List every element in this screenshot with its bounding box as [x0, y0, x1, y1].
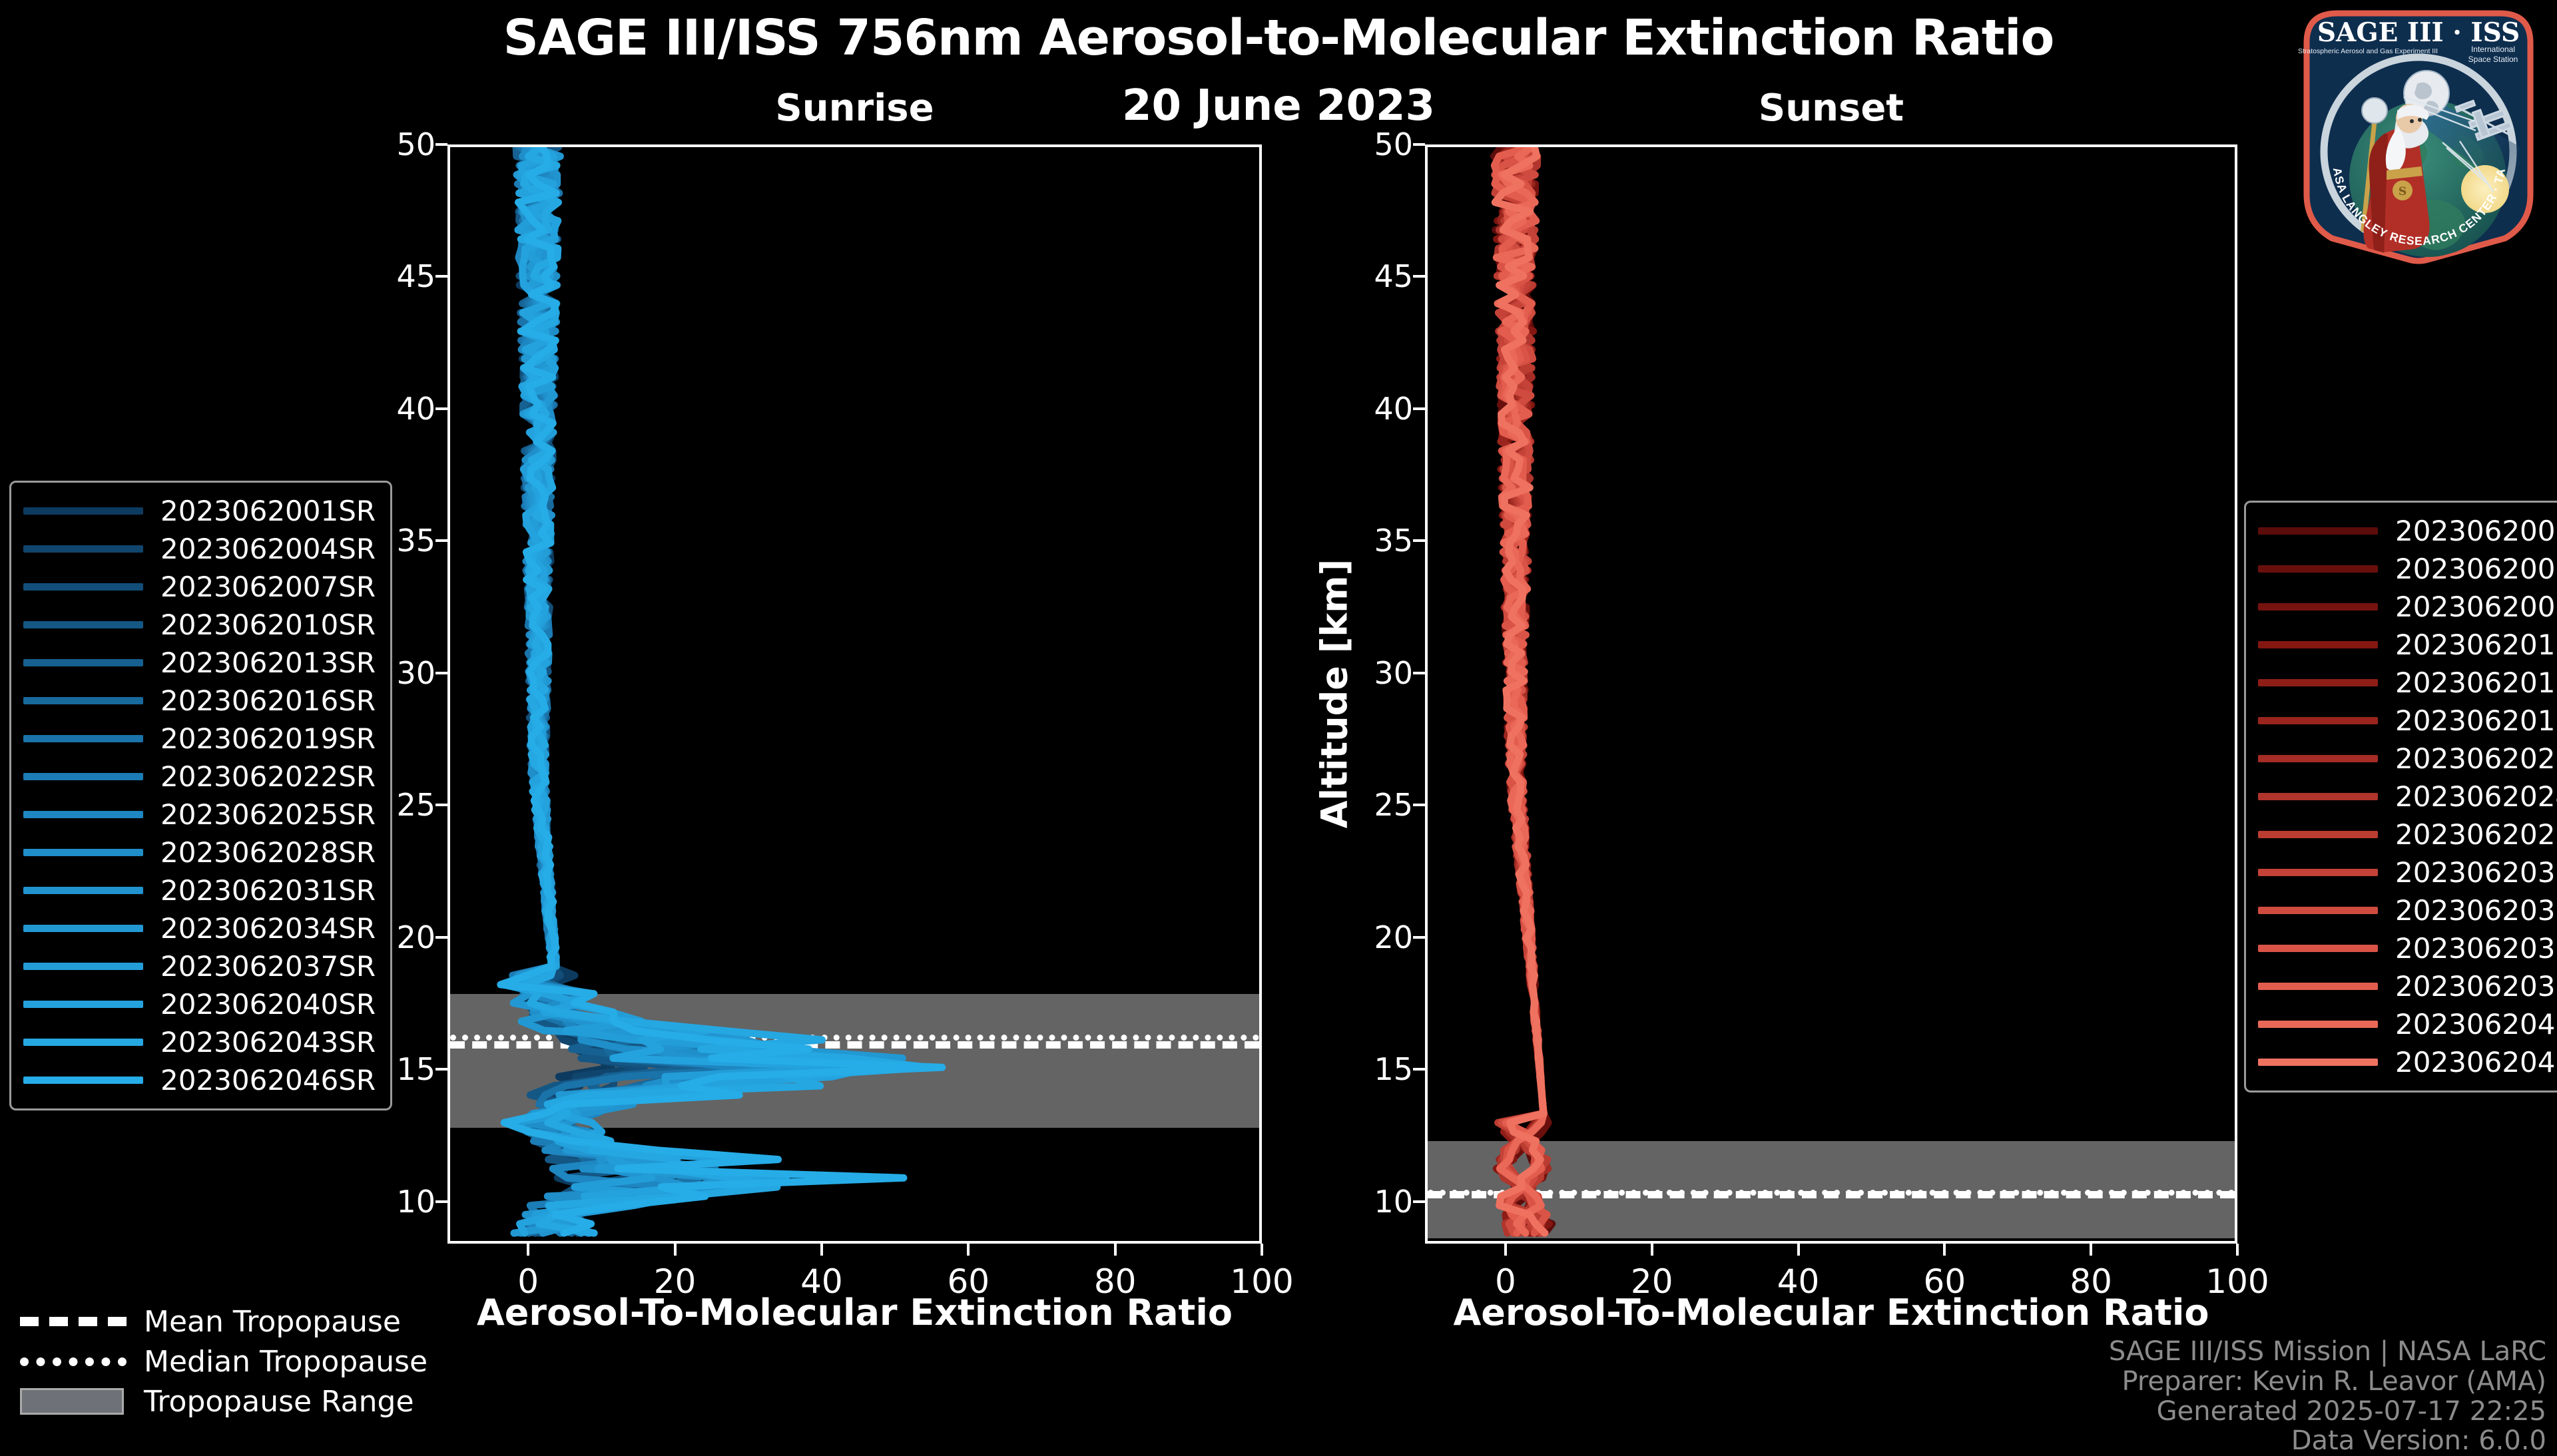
legend-color-swatch [2258, 945, 2378, 952]
y-tick-mark [1413, 804, 1425, 806]
legend-series-label: 2023062033SS [2395, 894, 2557, 927]
y-tick-mark [435, 275, 447, 278]
legend-item-2023062006ss[interactable]: 2023062006SS [2258, 550, 2557, 588]
legend-color-swatch [2258, 755, 2378, 762]
legend-item-2023062015ss[interactable]: 2023062015SS [2258, 664, 2557, 702]
legend-color-swatch [23, 1077, 143, 1084]
legend-color-swatch [2258, 641, 2378, 648]
y-tick-mark [1413, 275, 1425, 278]
legend-item-2023062024ss[interactable]: 2023062024SS [2258, 778, 2557, 816]
sage-iii-iss-mission-patch-logo: S SAGE III · ISS Stratospheric Aerosol a… [2285, 4, 2552, 265]
legend-item-2023062016sr[interactable]: 2023062016SR [23, 682, 376, 720]
logo-subtitle-right-1: International [2471, 45, 2515, 54]
legend-color-swatch [2258, 907, 2378, 914]
y-tick-mark [435, 804, 447, 806]
legend-item-2023062007sr[interactable]: 2023062007SR [23, 568, 376, 606]
y-tick-label: 50 [348, 126, 435, 162]
legend-item-2023062040sr[interactable]: 2023062040SR [23, 985, 376, 1023]
legend-item-2023062013sr[interactable]: 2023062013SR [23, 644, 376, 682]
legend-color-swatch [23, 1039, 143, 1046]
legend-item-mean-tropopause: Mean Tropopause [20, 1302, 427, 1341]
legend-color-swatch [2258, 1021, 2378, 1028]
legend-series-label: 2023062030SS [2395, 856, 2557, 889]
legend-color-swatch [2258, 565, 2378, 573]
y-tick-label: 50 [1325, 126, 1413, 162]
legend-series-label: 2023062025SR [160, 798, 376, 831]
dashed-line-icon [20, 1310, 127, 1333]
legend-series-label: 2023062045SS [2395, 1046, 2557, 1079]
legend-item-2023062028sr[interactable]: 2023062028SR [23, 834, 376, 871]
logo-subtitle-right-2: Space Station [2468, 55, 2518, 64]
page-title: SAGE III/ISS 756nm Aerosol-to-Molecular … [0, 9, 2557, 67]
legend-item-2023062030ss[interactable]: 2023062030SS [2258, 853, 2557, 891]
y-tick-mark [435, 936, 447, 939]
legend-label-tropopause-range: Tropopause Range [144, 1385, 414, 1419]
x-tick-mark [1943, 1244, 1946, 1256]
legend-item-2023062036ss[interactable]: 2023062036SS [2258, 929, 2557, 967]
legend-color-swatch [2258, 527, 2378, 535]
legend-item-2023062046sr[interactable]: 2023062046SR [23, 1061, 376, 1099]
legend-item-2023062003ss[interactable]: 2023062003SS [2258, 512, 2557, 550]
legend-series-label: 2023062018SS [2395, 704, 2557, 737]
x-tick-mark [2090, 1244, 2092, 1256]
legend-series-label: 2023062024SS [2395, 780, 2557, 813]
legend-color-swatch [23, 659, 143, 666]
legend-color-swatch [2258, 831, 2378, 838]
legend-series-label: 2023062001SR [160, 495, 376, 527]
y-tick-label: 40 [1325, 391, 1413, 427]
footer-line-preparer: Preparer: Kevin R. Leavor (AMA) [2109, 1367, 2546, 1397]
legend-color-swatch [23, 773, 143, 780]
y-tick-mark [1413, 143, 1425, 146]
legend-item-2023062042ss[interactable]: 2023062042SS [2258, 1005, 2557, 1043]
y-tick-mark [1413, 1068, 1425, 1071]
legend-series-label: 2023062028SR [160, 836, 376, 869]
legend-series-label: 2023062027SS [2395, 818, 2557, 851]
legend-series-label: 2023062022SR [160, 760, 376, 793]
legend-series-label: 2023062016SR [160, 684, 376, 717]
legend-color-swatch [23, 621, 143, 628]
legend-item-2023062037sr[interactable]: 2023062037SR [23, 947, 376, 985]
legend-item-2023062025sr[interactable]: 2023062025SR [23, 796, 376, 834]
legend-color-swatch [23, 887, 143, 894]
legend-color-swatch [2258, 983, 2378, 990]
x-tick-mark [1797, 1244, 1800, 1256]
legend-color-swatch [2258, 793, 2378, 800]
legend-series-label: 2023062009SS [2395, 591, 2557, 623]
legend-series-label: 2023062046SR [160, 1064, 376, 1096]
sunrise-series-legend[interactable]: 2023062001SR2023062004SR2023062007SR2023… [9, 481, 392, 1110]
legend-series-label: 2023062004SR [160, 533, 376, 565]
x-tick-mark [2236, 1244, 2239, 1256]
y-tick-mark [435, 143, 447, 146]
y-tick-label: 35 [1325, 523, 1413, 559]
legend-color-swatch [2258, 679, 2378, 686]
y-tick-mark [435, 1200, 447, 1203]
legend-series-label: 2023062040SR [160, 988, 376, 1021]
legend-item-2023062001sr[interactable]: 2023062001SR [23, 492, 376, 530]
sunrise-plot-area [447, 144, 1262, 1244]
legend-series-label: 2023062039SS [2395, 970, 2557, 1003]
legend-item-2023062034sr[interactable]: 2023062034SR [23, 909, 376, 947]
sunset-y-axis-label: Altitude [km] [1314, 559, 1356, 829]
legend-color-swatch [23, 849, 143, 856]
legend-item-2023062018ss[interactable]: 2023062018SS [2258, 702, 2557, 740]
y-tick-mark [435, 672, 447, 674]
x-tick-mark [1651, 1244, 1653, 1256]
legend-item-median-tropopause: Median Tropopause [20, 1341, 427, 1381]
legend-color-swatch [23, 545, 143, 553]
gray-swatch-icon [20, 1390, 127, 1413]
legend-item-2023062039ss[interactable]: 2023062039SS [2258, 967, 2557, 1005]
legend-item-2023062043sr[interactable]: 2023062043SR [23, 1023, 376, 1061]
legend-color-swatch [2258, 1059, 2378, 1066]
y-tick-mark [1413, 1200, 1425, 1203]
legend-series-label: 2023062031SR [160, 874, 376, 907]
svg-text:S: S [2399, 185, 2407, 198]
legend-item-2023062019sr[interactable]: 2023062019SR [23, 720, 376, 758]
legend-series-label: 2023062006SS [2395, 553, 2557, 585]
legend-series-label: 2023062013SR [160, 646, 376, 679]
legend-color-swatch [23, 583, 143, 591]
sunset-x-axis-label: Aerosol-To-Molecular Extinction Ratio [1425, 1292, 2237, 1334]
y-tick-label: 20 [1325, 919, 1413, 955]
y-tick-label: 40 [348, 391, 435, 427]
y-tick-mark [435, 407, 447, 410]
sunrise-panel-title: Sunrise [447, 87, 1262, 130]
legend-color-swatch [23, 963, 143, 970]
sunset-panel-title: Sunset [1425, 87, 2237, 130]
x-tick-mark [527, 1244, 529, 1256]
legend-series-label: 2023062015SS [2395, 666, 2557, 699]
logo-title: SAGE III · ISS [2317, 17, 2520, 48]
legend-color-swatch [23, 697, 143, 704]
x-tick-mark [674, 1244, 677, 1256]
sunset-series-legend[interactable]: 2023062003SS2023062006SS2023062009SS2023… [2244, 501, 2557, 1092]
logo-subtitle-left: Stratospheric Aerosol and Gas Experiment… [2298, 47, 2438, 55]
legend-label-median-tropopause: Median Tropopause [144, 1345, 427, 1379]
y-tick-label: 45 [348, 258, 435, 294]
footer-line-generated: Generated 2025-07-17 22:25 [2109, 1397, 2546, 1427]
y-tick-label: 45 [1325, 258, 1413, 294]
legend-item-2023062045ss[interactable]: 2023062045SS [2258, 1043, 2557, 1081]
legend-color-swatch [23, 1001, 143, 1008]
y-tick-mark [435, 1068, 447, 1071]
y-tick-mark [1413, 672, 1425, 674]
legend-item-2023062012ss[interactable]: 2023062012SS [2258, 626, 2557, 664]
y-tick-mark [1413, 539, 1425, 542]
legend-series-label: 2023062043SR [160, 1026, 376, 1059]
legend-color-swatch [23, 735, 143, 742]
y-tick-mark [1413, 407, 1425, 410]
sunrise-profile-lines [450, 147, 1259, 1241]
legend-color-swatch [2258, 869, 2378, 876]
sunset-profile-lines [1428, 147, 2235, 1241]
y-tick-mark [1413, 936, 1425, 939]
legend-item-2023062031sr[interactable]: 2023062031SR [23, 871, 376, 909]
x-tick-mark [967, 1244, 970, 1256]
y-tick-label: 10 [348, 1184, 435, 1220]
legend-label-mean-tropopause: Mean Tropopause [144, 1305, 401, 1339]
y-tick-mark [435, 539, 447, 542]
y-tick-label: 10 [1325, 1184, 1413, 1220]
legend-item-2023062009ss[interactable]: 2023062009SS [2258, 588, 2557, 626]
legend-series-label: 2023062021SS [2395, 742, 2557, 775]
legend-color-swatch [2258, 717, 2378, 724]
legend-item-2023062004sr[interactable]: 2023062004SR [23, 530, 376, 568]
legend-series-label: 2023062037SR [160, 950, 376, 983]
legend-item-2023062022sr[interactable]: 2023062022SR [23, 758, 376, 796]
legend-item-2023062021ss[interactable]: 2023062021SS [2258, 740, 2557, 778]
legend-color-swatch [2258, 603, 2378, 610]
legend-item-2023062027ss[interactable]: 2023062027SS [2258, 816, 2557, 853]
tropopause-legend: Mean Tropopause Median Tropopause Tropop… [20, 1302, 427, 1421]
y-tick-label: 15 [1325, 1051, 1413, 1087]
footer-line-mission: SAGE III/ISS Mission | NASA LaRC [2109, 1337, 2546, 1367]
footer-credits: SAGE III/ISS Mission | NASA LaRC Prepare… [2109, 1337, 2546, 1456]
x-tick-mark [1114, 1244, 1117, 1256]
legend-color-swatch [23, 811, 143, 818]
sunrise-x-axis-label: Aerosol-To-Molecular Extinction Ratio [447, 1292, 1262, 1334]
legend-item-2023062010sr[interactable]: 2023062010SR [23, 606, 376, 644]
dotted-line-icon [20, 1350, 127, 1373]
footer-line-version: Data Version: 6.0.0 [2109, 1426, 2546, 1456]
x-tick-mark [1504, 1244, 1507, 1256]
legend-series-label: 2023062010SR [160, 608, 376, 641]
legend-item-2023062033ss[interactable]: 2023062033SS [2258, 891, 2557, 929]
legend-series-label: 2023062036SS [2395, 932, 2557, 965]
legend-series-label: 2023062012SS [2395, 628, 2557, 661]
legend-series-label: 2023062019SR [160, 722, 376, 755]
legend-series-label: 2023062007SR [160, 571, 376, 603]
legend-item-tropopause-range: Tropopause Range [20, 1381, 427, 1421]
legend-series-label: 2023062042SS [2395, 1008, 2557, 1041]
legend-color-swatch [23, 507, 143, 515]
legend-color-swatch [23, 925, 143, 932]
legend-series-label: 2023062034SR [160, 912, 376, 945]
sunset-plot-area [1425, 144, 2237, 1244]
legend-series-label: 2023062003SS [2395, 515, 2557, 547]
x-tick-mark [1261, 1244, 1263, 1256]
x-tick-mark [820, 1244, 823, 1256]
